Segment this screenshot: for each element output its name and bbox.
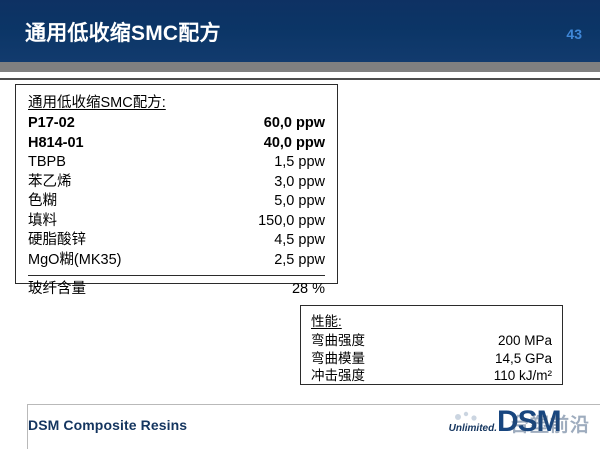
row-value: 2,5 ppw	[274, 251, 325, 271]
row-label: TBPB	[28, 153, 66, 173]
formula-table-divider	[28, 275, 325, 276]
row-label: 硬脂酸锌	[28, 231, 86, 251]
row-value: 14,5 GPa	[495, 350, 552, 368]
summary-value: 28 %	[292, 280, 325, 300]
table-row: MgO糊(MK35) 2,5 ppw	[28, 251, 325, 271]
row-value: 5,0 ppw	[274, 192, 325, 212]
row-label: MgO糊(MK35)	[28, 251, 121, 271]
row-label: 弯曲强度	[311, 332, 365, 350]
dsm-logo-icon: DSM	[497, 404, 595, 440]
row-value: 110 kJ/m²	[494, 367, 552, 385]
table-row: 苯乙烯 3,0 ppw	[28, 173, 325, 193]
table-row: 弯曲模量 14,5 GPa	[311, 350, 552, 368]
footer-brand-text: DSM Composite Resins	[28, 417, 187, 433]
properties-table: 性能: 弯曲强度 200 MPa 弯曲模量 14,5 GPa 冲击强度 110 …	[300, 305, 563, 385]
row-label: H814-01	[28, 134, 84, 154]
table-row: P17-02 60,0 ppw	[28, 114, 325, 134]
table-row: 弯曲强度 200 MPa	[311, 332, 552, 350]
header-thin-rule	[0, 78, 600, 80]
svg-text:DSM: DSM	[497, 405, 561, 438]
table-row: 填料 150,0 ppw	[28, 212, 325, 232]
row-label: P17-02	[28, 114, 75, 134]
header-gray-divider	[0, 62, 600, 72]
page-title: 通用低收缩SMC配方	[25, 17, 221, 47]
table-row: H814-01 40,0 ppw	[28, 134, 325, 154]
row-value: 60,0 ppw	[264, 114, 325, 134]
row-label: 色糊	[28, 192, 57, 212]
formula-table: 通用低收缩SMC配方: P17-02 60,0 ppw H814-01 40,0…	[15, 84, 338, 284]
row-value: 1,5 ppw	[274, 153, 325, 173]
row-label: 填料	[28, 212, 57, 232]
properties-table-heading: 性能:	[311, 310, 552, 330]
row-value: 40,0 ppw	[264, 134, 325, 154]
row-value: 3,0 ppw	[274, 173, 325, 193]
formula-table-heading: 通用低收缩SMC配方:	[28, 91, 325, 112]
row-label: 苯乙烯	[28, 173, 72, 193]
table-row: 冲击强度 110 kJ/m²	[311, 367, 552, 385]
dsm-tagline: Unlimited.	[449, 423, 497, 434]
row-value: 200 MPa	[498, 332, 552, 350]
row-value: 4,5 ppw	[274, 231, 325, 251]
row-label: 冲击强度	[311, 367, 365, 385]
table-row-summary: 玻纤含量 28 %	[28, 280, 325, 300]
row-label: 弯曲模量	[311, 350, 365, 368]
table-row: 硬脂酸锌 4,5 ppw	[28, 231, 325, 251]
row-value: 150,0 ppw	[258, 212, 325, 232]
summary-label: 玻纤含量	[28, 280, 86, 300]
table-row: TBPB 1,5 ppw	[28, 153, 325, 173]
slide-page-number: 43	[566, 26, 582, 42]
table-row: 色糊 5,0 ppw	[28, 192, 325, 212]
